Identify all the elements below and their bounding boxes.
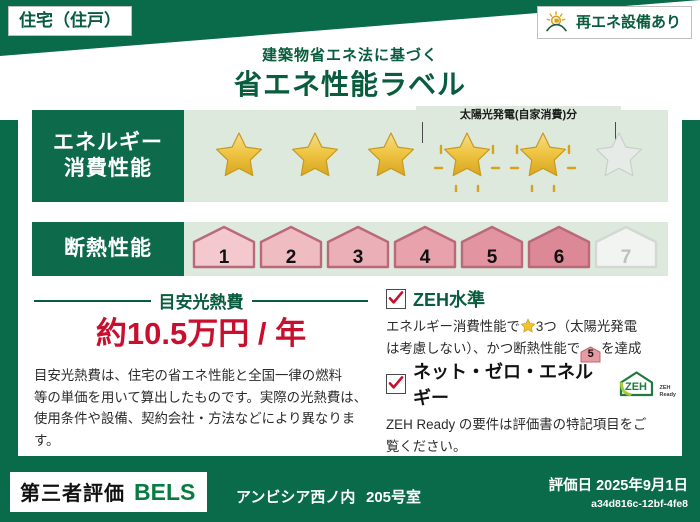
bels-label: BELS (134, 479, 195, 506)
zeh-standard-check-row: ZEH水準 (386, 286, 676, 312)
insulation-performance-row: 断熱性能 1234567 (32, 222, 668, 276)
zeh-ready-caption: ZEH Ready (659, 385, 676, 398)
star-filled (202, 120, 276, 192)
star-filled (506, 120, 580, 192)
insulation-level-filled: 6 (527, 225, 591, 273)
insulation-level-filled: 4 (393, 225, 457, 273)
rule-right (252, 300, 369, 302)
net-zero-description: ZEH Ready の要件は評価書の特記項目をご 覧ください。 (386, 414, 676, 457)
zeh-standard-block: ZEH水準 エネルギー消費性能で3つ（太陽光発電 は考慮しない）、かつ断熱性能で… (386, 286, 676, 363)
star-filled (354, 120, 428, 192)
zeh-desc-part2: は考慮しない）、かつ断熱性能で (386, 341, 580, 356)
zeh-desc-stars: 3つ（太陽光発電 (536, 319, 637, 334)
energy-performance-label: エネルギー 消費性能 (32, 110, 184, 202)
checked-checkbox-icon (386, 374, 406, 394)
insulation-level-filled: 5 (460, 225, 524, 273)
utility-cost-value: 約10.5万円 / 年 (34, 308, 368, 353)
zeh-ready-logo-icon: ZEH ZEH Ready (617, 370, 676, 398)
insulation-levels-area: 1234567 (184, 222, 668, 276)
label-subtitle: 建築物省エネ法に基づく (0, 44, 700, 65)
zeh-standard-description: エネルギー消費性能で3つ（太陽光発電 は考慮しない）、かつ断熱性能で5を達成 (386, 316, 676, 363)
net-zero-title: ネット・ゼロ・エネルギー (413, 358, 606, 410)
zeh-standard-title: ZEH水準 (413, 286, 485, 312)
property-name: アンビシア西ノ内 (236, 486, 355, 507)
label-title: 省エネ性能ラベル (0, 63, 700, 103)
insulation-level-scale: 1234567 (184, 222, 668, 276)
document-id: a34d816c-12bf-4fe8 (591, 498, 688, 510)
insulation-level-empty: 7 (594, 225, 658, 273)
insulation-level-number: 3 (353, 247, 364, 269)
insulation-level-number: 1 (219, 247, 230, 269)
note-line-2: 等の単価を用いて算出したものです。実際の光熱費は、 (34, 387, 370, 409)
third-party-label: 第三者評価 (20, 477, 125, 506)
net-zero-desc-line-2: 覧ください。 (386, 436, 676, 458)
zeh-desc-part1: エネルギー消費性能で (386, 319, 520, 334)
net-zero-desc-line-1: ZEH Ready の要件は評価書の特記項目をご (386, 414, 676, 436)
checked-checkbox-icon (386, 289, 406, 309)
renewable-badge-label: 再エネ設備あり (576, 15, 681, 30)
house-type-tag: 住宅（住戸） (8, 6, 132, 36)
note-line-1: 目安光熱費は、住宅の省エネ性能と全国一律の燃料 (34, 365, 370, 387)
insulation-level-filled: 1 (192, 225, 256, 273)
utility-cost-note: 目安光熱費は、住宅の省エネ性能と全国一律の燃料 等の単価を用いて算出したものです… (34, 365, 370, 452)
insulation-level-filled: 2 (259, 225, 323, 273)
rule-left (34, 300, 151, 302)
energy-performance-label-card: 住宅（住戸） 再エネ設備あり 建築物省エネ法に基づく 省エネ性能ラベル (0, 0, 700, 522)
renewable-equipment-badge: 再エネ設備あり (537, 6, 692, 39)
insulation-level-filled: 3 (326, 225, 390, 273)
star-empty (582, 120, 656, 192)
net-zero-energy-block: ネット・ゼロ・エネルギー ZEH ZEH Ready ZEH Ready の要件… (386, 358, 676, 457)
zeh-desc-part3: を達成 (601, 341, 641, 356)
star-rating (190, 110, 664, 202)
note-line-3: 使用条件や設備、契約会社・方法などにより異なります。 (34, 408, 370, 451)
energy-stars-area: 太陽光発電(自家消費)分 (184, 110, 668, 202)
star-filled (430, 120, 504, 192)
star-filled (278, 120, 352, 192)
insulation-level-number: 5 (487, 247, 498, 269)
insulation-level-number: 7 (621, 247, 632, 269)
solar-sun-icon (544, 11, 570, 33)
insulation-level-number: 2 (286, 247, 297, 269)
net-zero-check-row: ネット・ゼロ・エネルギー ZEH ZEH Ready (386, 358, 676, 410)
insulation-level-number: 6 (554, 247, 565, 269)
bels-badge: 第三者評価 BELS (10, 472, 207, 512)
room-number: 205号室 (366, 486, 421, 507)
evaluation-date: 評価日 2025年9月1日 (549, 474, 688, 495)
inline-star-icon (520, 318, 536, 334)
energy-performance-row: エネルギー 消費性能 太陽光発電(自家消費)分 (32, 110, 668, 202)
svg-text:ZEH: ZEH (625, 381, 647, 393)
insulation-performance-label: 断熱性能 (32, 222, 184, 276)
insulation-level-number: 4 (420, 247, 431, 269)
